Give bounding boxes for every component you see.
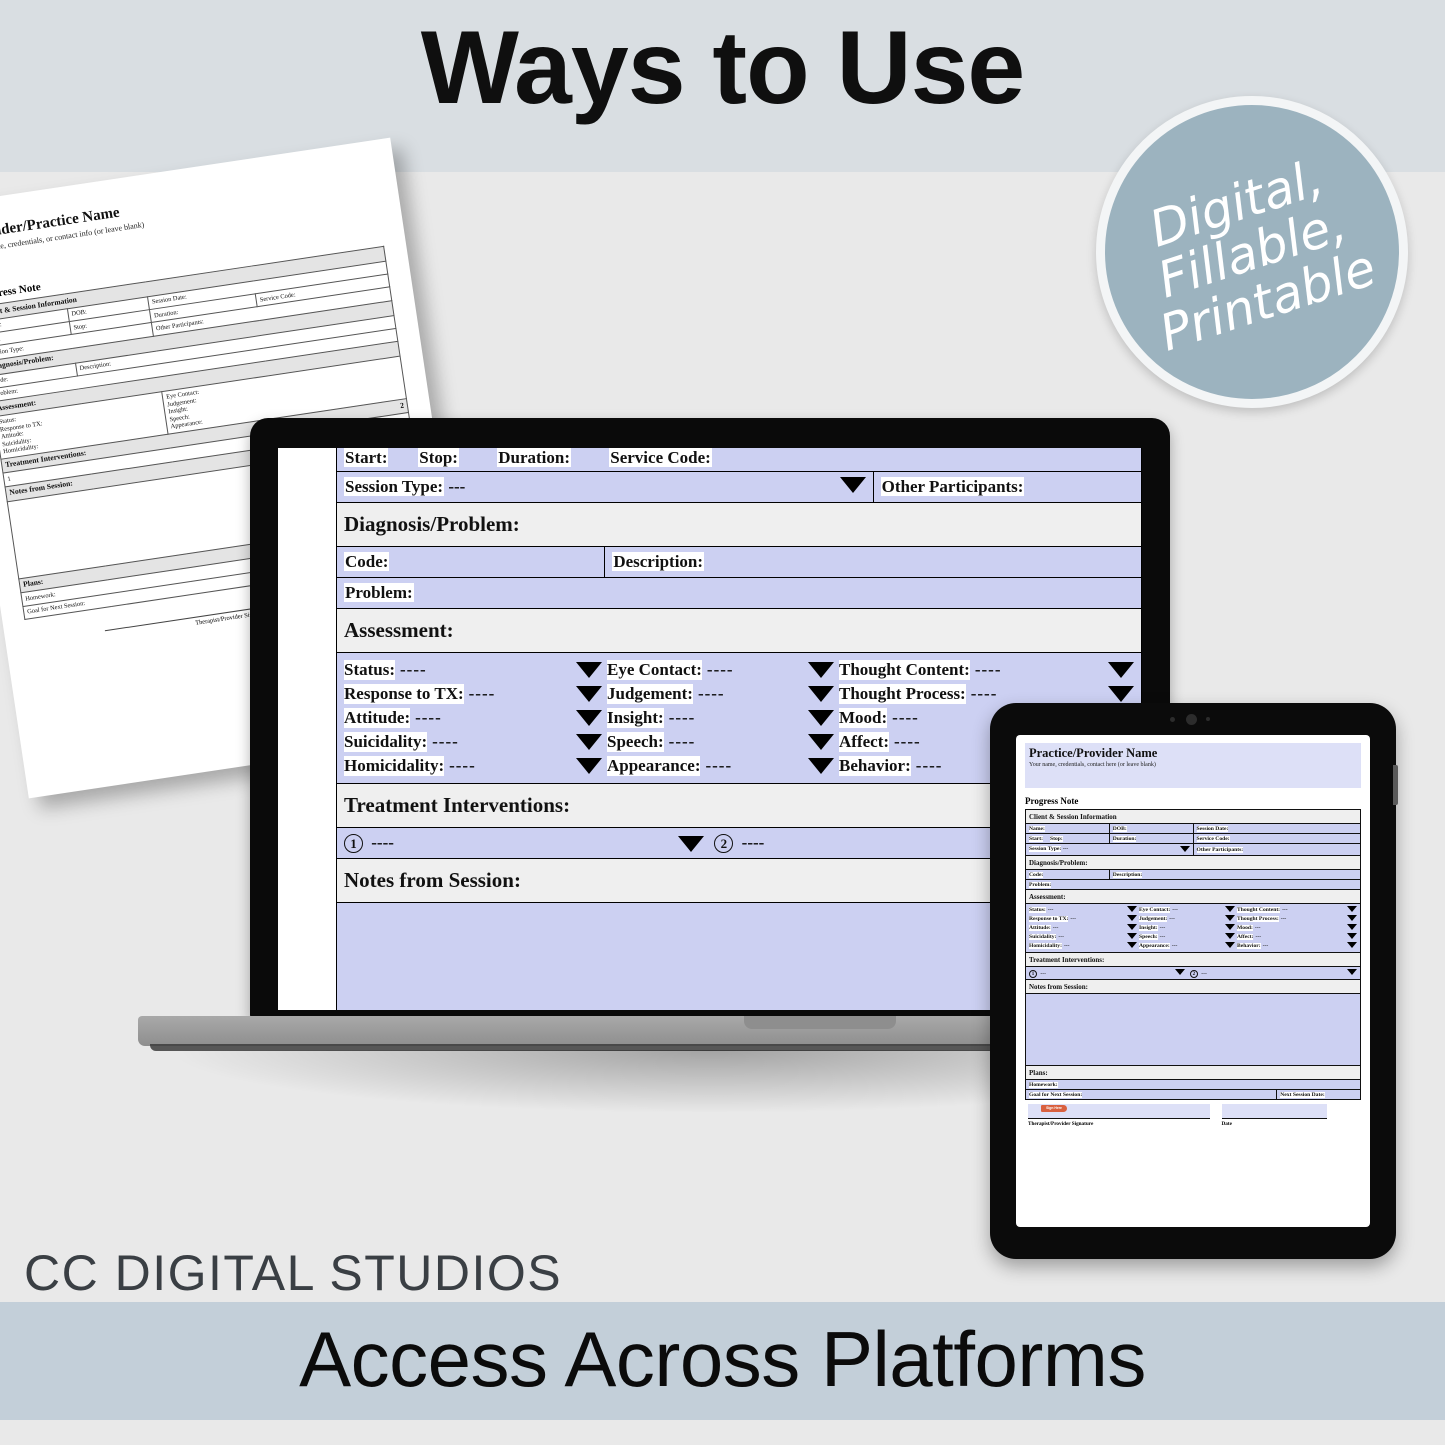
tablet-field-session-type: Session Type: <box>1029 846 1061 852</box>
tablet-assessment-cell: Status:--- Eye Contact:--- Thought Conte… <box>1026 904 1361 953</box>
tablet-signature-row: Sign Here Therapist/Provider Signature D… <box>1025 1100 1361 1127</box>
tablet-assess-affect[interactable]: Affect:--- <box>1225 933 1357 941</box>
laptop-other-participants-cell[interactable]: Other Participants: <box>873 472 1141 503</box>
chevron-down-icon[interactable] <box>1108 686 1134 702</box>
tablet-field-homework: Homework: <box>1029 1082 1058 1088</box>
laptop-intervention-1-value: ---- <box>371 833 394 852</box>
laptop-trackpad-notch <box>744 1016 896 1029</box>
laptop-intervention-2-value: ---- <box>742 833 765 852</box>
tablet-assess-appearance[interactable]: Appearance:--- <box>1127 942 1225 950</box>
tablet-description-cell[interactable]: Description: <box>1109 870 1360 880</box>
tablet-assess-attitude[interactable]: Attitude:--- <box>1029 924 1127 932</box>
chevron-down-icon[interactable] <box>808 710 834 726</box>
chevron-down-icon[interactable] <box>576 734 602 750</box>
tablet-goal-next-cell[interactable]: Goal for Next Session: <box>1026 1090 1277 1100</box>
laptop-field-start: Start: <box>344 448 388 467</box>
bottom-banner-title: Access Across Platforms <box>0 1314 1445 1405</box>
tablet-dob-cell[interactable]: DOB: <box>1109 824 1193 834</box>
laptop-section-diagnosis: Diagnosis/Problem: <box>337 503 1142 547</box>
tablet-provider-header-box[interactable]: Practice/Provider Name Your name, creden… <box>1025 743 1361 788</box>
tablet-field-code: Code: <box>1029 872 1043 878</box>
sign-here-tag[interactable]: Sign Here <box>1041 1105 1067 1112</box>
tablet-field-stop: Stop: <box>1050 836 1063 842</box>
tablet-field-session-date: Session Date: <box>1197 826 1229 832</box>
laptop-assess-thought-process[interactable]: Thought Process:---- <box>808 684 1134 704</box>
brand-name: CC DIGITAL STUDIOS <box>24 1244 562 1302</box>
chevron-down-icon[interactable] <box>576 662 602 678</box>
tablet-assess-homicidality[interactable]: Homicidality:--- <box>1029 942 1127 950</box>
laptop-row-truncated: Start: Stop: Duration: Service Code: <box>337 448 1142 472</box>
tablet-field-other-participants: Other Participants: <box>1197 847 1244 853</box>
tablet-field-goal-next: Goal for Next Session: <box>1029 1092 1082 1098</box>
tablet-intervention-1-value: --- <box>1040 971 1046 977</box>
laptop-session-type-cell[interactable]: Session Type: --- <box>337 472 874 503</box>
laptop-field-description: Description: <box>612 552 704 571</box>
laptop-assess-suicidality[interactable]: Suicidality:---- <box>344 732 576 752</box>
chevron-down-icon[interactable] <box>1127 924 1137 932</box>
digital-fillable-printable-badge: Digital, Fillable, Printable <box>1096 96 1408 408</box>
chevron-down-icon[interactable] <box>1225 915 1235 923</box>
chevron-down-icon[interactable] <box>1347 915 1357 923</box>
tablet-assess-status[interactable]: Status:--- <box>1029 906 1127 914</box>
tablet-name-cell[interactable]: Name: <box>1026 824 1110 834</box>
laptop-field-code: Code: <box>344 552 389 571</box>
laptop-assess-eye-contact[interactable]: Eye Contact:---- <box>576 660 808 680</box>
laptop-assess-judgement[interactable]: Judgement:---- <box>576 684 808 704</box>
tablet-signature-label: Therapist/Provider Signature <box>1028 1121 1210 1127</box>
tablet-assessment-grid: Status:--- Eye Contact:--- Thought Conte… <box>1029 906 1357 950</box>
tablet-code-cell[interactable]: Code: <box>1026 870 1110 880</box>
chevron-down-icon[interactable] <box>678 833 704 852</box>
laptop-field-other-participants: Other Participants: <box>881 477 1025 496</box>
chevron-down-icon[interactable] <box>1127 906 1137 914</box>
tablet-intervention-2-value: --- <box>1201 971 1207 977</box>
laptop-field-stop: Stop: <box>418 448 459 467</box>
laptop-field-duration: Duration: <box>497 448 571 467</box>
tablet-mockup: Practice/Provider Name Your name, creden… <box>990 703 1396 1259</box>
laptop-assess-thought-content[interactable]: Thought Content:---- <box>808 660 1134 680</box>
laptop-assess-speech[interactable]: Speech:---- <box>576 732 808 752</box>
tablet-assess-eye-contact[interactable]: Eye Contact:--- <box>1127 906 1225 914</box>
tablet-body: Practice/Provider Name Your name, creden… <box>990 703 1396 1259</box>
chevron-down-icon[interactable] <box>1347 933 1357 941</box>
chevron-down-icon[interactable] <box>1108 662 1134 678</box>
tablet-section-diagnosis: Diagnosis/Problem: <box>1026 856 1361 870</box>
chevron-down-icon[interactable] <box>1347 924 1357 932</box>
chevron-down-icon[interactable] <box>1225 933 1235 941</box>
tablet-problem-cell[interactable]: Problem: <box>1026 880 1361 890</box>
laptop-intervention-2-badge: 2 <box>714 834 733 853</box>
tablet-interventions-cell[interactable]: 1 --- 2 --- <box>1026 967 1361 980</box>
camera-mic-icon <box>1206 717 1210 721</box>
tablet-field-dob: DOB: <box>1113 826 1127 832</box>
laptop-field-session-type: Session Type: <box>344 477 444 496</box>
tablet-assess-mood[interactable]: Mood:--- <box>1225 924 1357 932</box>
tablet-homework-cell[interactable]: Homework: <box>1026 1080 1361 1090</box>
chevron-down-icon[interactable] <box>1347 969 1357 977</box>
laptop-session-type-value: --- <box>448 477 465 496</box>
tablet-provider-title: Practice/Provider Name <box>1029 746 1357 761</box>
chevron-down-icon[interactable] <box>1225 924 1235 932</box>
tablet-field-next-session-date: Next Session Date: <box>1280 1092 1324 1098</box>
laptop-problem-cell[interactable]: Problem: <box>337 578 1142 609</box>
chevron-down-icon[interactable] <box>808 686 834 702</box>
tablet-intervention-1-badge: 1 <box>1029 970 1037 978</box>
laptop-assess-homicidality[interactable]: Homicidality:---- <box>344 756 576 776</box>
tablet-field-name: Name: <box>1029 826 1045 832</box>
tablet-provider-subtitle: Your name, credentials, contact here (or… <box>1029 762 1357 768</box>
laptop-assess-status[interactable]: Status:---- <box>344 660 576 680</box>
chevron-down-icon[interactable] <box>808 758 834 774</box>
tablet-date-label: Date <box>1222 1121 1328 1127</box>
tablet-assess-thought-process[interactable]: Thought Process:--- <box>1225 915 1357 923</box>
tablet-assess-response-tx[interactable]: Response to TX:--- <box>1029 915 1127 923</box>
tablet-section-plans: Plans: <box>1026 1066 1361 1080</box>
laptop-assess-appearance[interactable]: Appearance:---- <box>576 756 808 776</box>
tablet-assess-suicidality[interactable]: Suicidality:--- <box>1029 933 1127 941</box>
chevron-down-icon[interactable] <box>1225 942 1235 950</box>
chevron-down-icon[interactable] <box>1127 933 1137 941</box>
laptop-intervention-1-badge: 1 <box>344 834 363 853</box>
chevron-down-icon[interactable] <box>1347 942 1357 950</box>
tablet-session-date-cell[interactable]: Session Date: <box>1193 824 1361 834</box>
tablet-assess-behavior[interactable]: Behavior:--- <box>1225 942 1357 950</box>
tablet-intervention-2-badge: 2 <box>1190 970 1198 978</box>
tablet-signature-cell[interactable]: Sign Here Therapist/Provider Signature <box>1028 1104 1210 1127</box>
tablet-form-document: Practice/Provider Name Your name, creden… <box>1016 735 1370 1127</box>
chevron-down-icon[interactable] <box>1347 906 1357 914</box>
tablet-form-table: Client & Session Information Name: DOB: … <box>1025 809 1361 1100</box>
laptop-assess-response-tx[interactable]: Response to TX:---- <box>344 684 576 704</box>
chevron-down-icon[interactable] <box>576 758 602 774</box>
laptop-field-problem: Problem: <box>344 583 414 602</box>
laptop-field-service-code: Service Code: <box>609 448 712 467</box>
chevron-down-icon[interactable] <box>576 710 602 726</box>
tablet-duration-cell[interactable]: Duration: <box>1109 834 1193 844</box>
tablet-service-code-cell[interactable]: Service Code: <box>1193 834 1361 844</box>
tablet-assess-judgement[interactable]: Judgement:--- <box>1127 915 1225 923</box>
camera-lens-icon <box>1186 714 1197 725</box>
chevron-down-icon[interactable] <box>808 734 834 750</box>
chevron-down-icon[interactable] <box>1127 915 1137 923</box>
tablet-field-problem: Problem: <box>1029 882 1051 888</box>
tablet-field-description: Description: <box>1113 872 1143 878</box>
tablet-field-start: Start: <box>1029 836 1043 842</box>
tablet-section-notes: Notes from Session: <box>1026 980 1361 994</box>
chevron-down-icon[interactable] <box>1225 906 1235 914</box>
laptop-section-assessment: Assessment: <box>337 609 1142 653</box>
tablet-assess-insight[interactable]: Insight:--- <box>1127 924 1225 932</box>
tablet-assess-thought-content[interactable]: Thought Content:--- <box>1225 906 1357 914</box>
tablet-session-type-value: --- <box>1063 846 1069 852</box>
chevron-down-icon[interactable] <box>1127 942 1137 950</box>
tablet-session-type-cell[interactable]: Session Type: --- <box>1026 844 1194 856</box>
chevron-down-icon[interactable] <box>808 662 834 678</box>
laptop-code-cell[interactable]: Code: <box>337 547 605 578</box>
camera-sensor-icon <box>1170 717 1175 722</box>
laptop-assess-insight[interactable]: Insight:---- <box>576 708 808 728</box>
tablet-assess-speech[interactable]: Speech:--- <box>1127 933 1225 941</box>
laptop-description-cell[interactable]: Description: <box>605 547 1142 578</box>
tablet-side-button[interactable] <box>1393 765 1398 805</box>
tablet-date-input[interactable] <box>1222 1104 1328 1119</box>
chevron-down-icon[interactable] <box>1175 971 1185 977</box>
chevron-down-icon[interactable] <box>1180 846 1190 854</box>
tablet-field-service-code: Service Code: <box>1197 836 1230 842</box>
chevron-down-icon[interactable] <box>840 477 866 493</box>
tablet-notes-textarea[interactable] <box>1026 994 1361 1066</box>
tablet-next-session-date-cell[interactable]: Next Session Date: <box>1277 1090 1361 1100</box>
tablet-section-client: Client & Session Information <box>1026 810 1361 824</box>
tablet-start-stop-cell[interactable]: Start: Stop: <box>1026 834 1110 844</box>
tablet-other-participants-cell[interactable]: Other Participants: <box>1193 844 1361 856</box>
laptop-assess-attitude[interactable]: Attitude:---- <box>344 708 576 728</box>
tablet-section-treatment: Treatment Interventions: <box>1026 953 1361 967</box>
tablet-field-duration: Duration: <box>1113 836 1137 842</box>
tablet-date-cell[interactable]: Date <box>1222 1104 1328 1127</box>
tablet-screen: Practice/Provider Name Your name, creden… <box>1016 735 1370 1227</box>
tablet-section-assessment: Assessment: <box>1026 890 1361 904</box>
chevron-down-icon[interactable] <box>576 686 602 702</box>
tablet-progress-note-heading: Progress Note <box>1025 796 1361 806</box>
